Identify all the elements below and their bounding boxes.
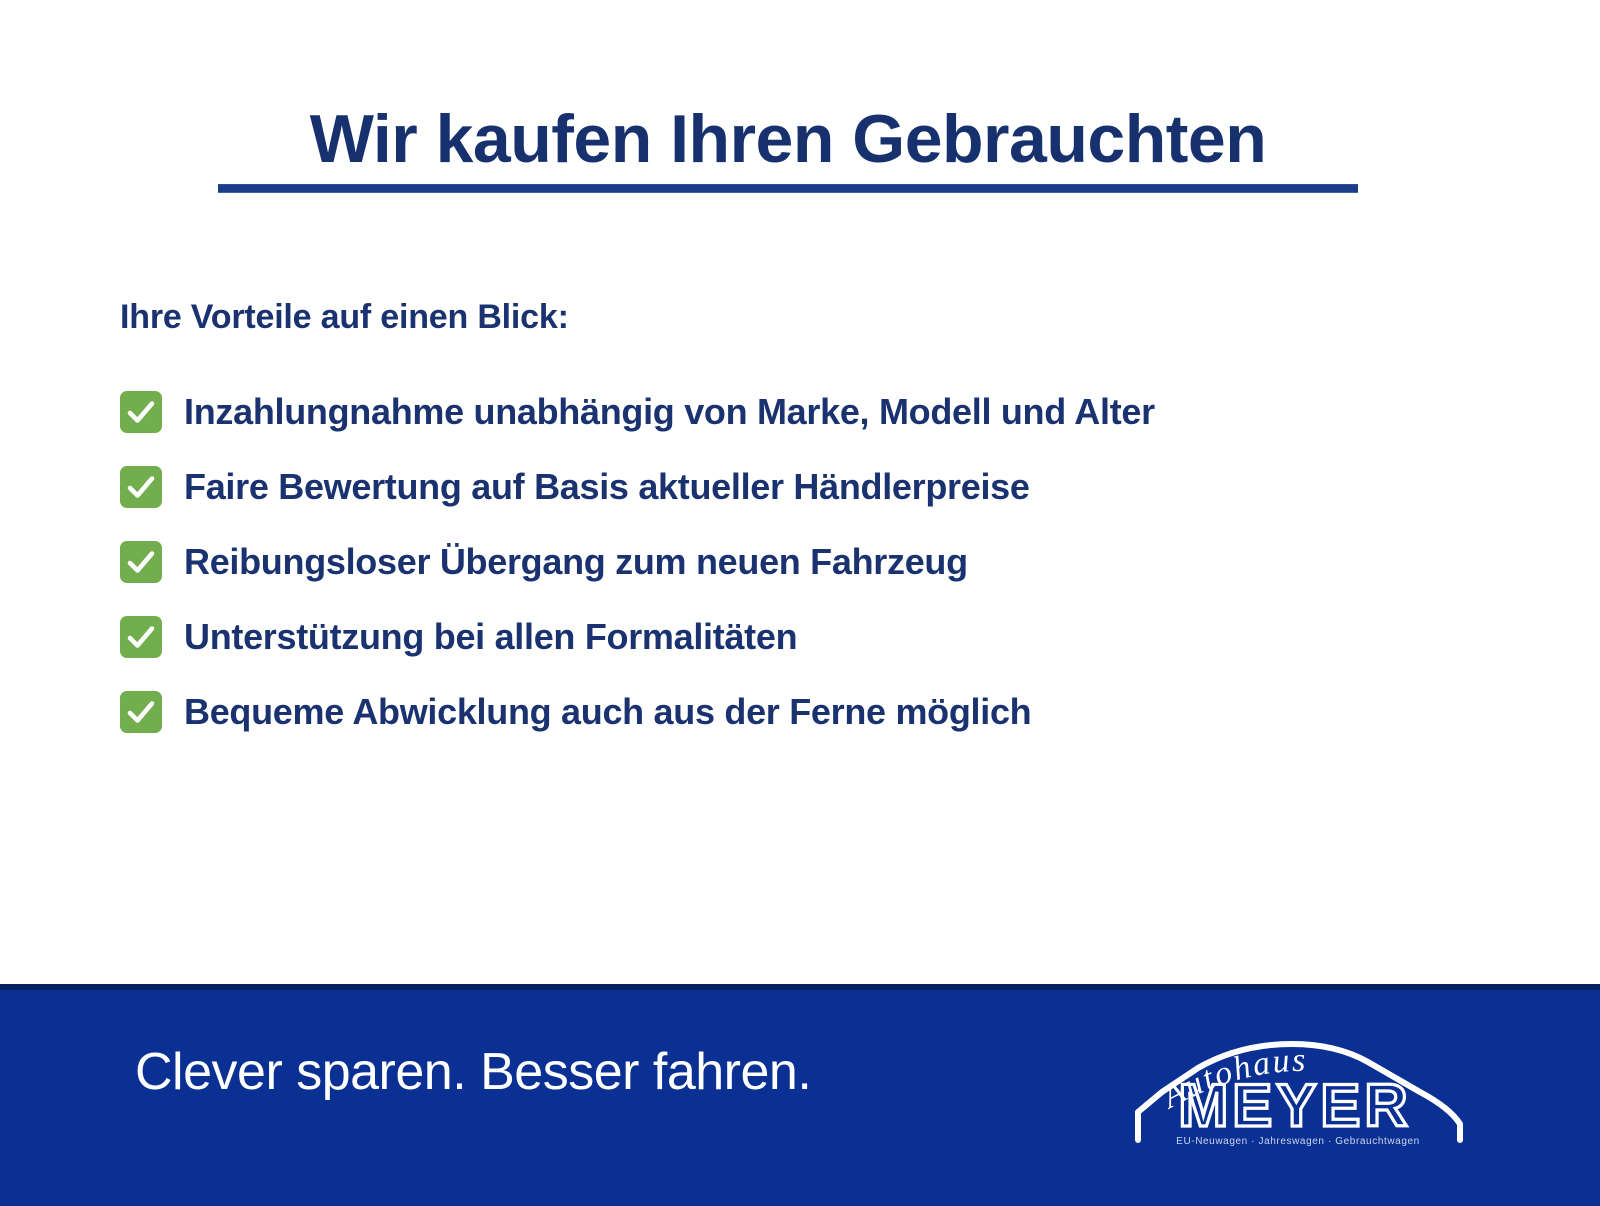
list-item-label: Bequeme Abwicklung auch aus der Ferne mö… <box>184 694 1031 730</box>
headline-text: Wir kaufen Ihren Gebrauchten <box>218 104 1358 175</box>
list-item-label: Inzahlungnahme unabhängig von Marke, Mod… <box>184 394 1155 430</box>
list-item: Unterstützung bei allen Formalitäten <box>120 599 1520 674</box>
check-square-icon <box>120 466 162 508</box>
headline-underline <box>218 184 1358 193</box>
logo-name-text: MEYER <box>1178 1072 1411 1139</box>
list-item-label: Unterstützung bei allen Formalitäten <box>184 619 797 655</box>
benefits-subheading: Ihre Vorteile auf einen Blick: <box>120 298 569 337</box>
check-square-icon <box>120 691 162 733</box>
list-item-label: Reibungsloser Übergang zum neuen Fahrzeu… <box>184 544 968 580</box>
list-item-label: Faire Bewertung auf Basis aktueller Händ… <box>184 469 1030 505</box>
list-item: Bequeme Abwicklung auch aus der Ferne mö… <box>120 674 1520 749</box>
promotional-poster: Wir kaufen Ihren Gebrauchten Ihre Vortei… <box>0 0 1600 1200</box>
footer-slogan: Clever sparen. Besser fahren. <box>135 1042 811 1102</box>
list-item: Reibungsloser Übergang zum neuen Fahrzeu… <box>120 524 1520 599</box>
check-square-icon <box>120 616 162 658</box>
benefits-list: Inzahlungnahme unabhängig von Marke, Mod… <box>120 374 1520 749</box>
list-item: Inzahlungnahme unabhängig von Marke, Mod… <box>120 374 1520 449</box>
check-square-icon <box>120 391 162 433</box>
check-square-icon <box>120 541 162 583</box>
dealer-logo: MEYER Autohaus EU-Neuwagen · Jahreswagen… <box>1120 1000 1470 1165</box>
footer-banner: Clever sparen. Besser fahren. MEYER Auto… <box>0 984 1600 1206</box>
logo-tagline: EU-Neuwagen · Jahreswagen · Gebrauchtwag… <box>1138 1136 1458 1147</box>
page-title: Wir kaufen Ihren Gebrauchten <box>218 104 1358 193</box>
list-item: Faire Bewertung auf Basis aktueller Händ… <box>120 449 1520 524</box>
